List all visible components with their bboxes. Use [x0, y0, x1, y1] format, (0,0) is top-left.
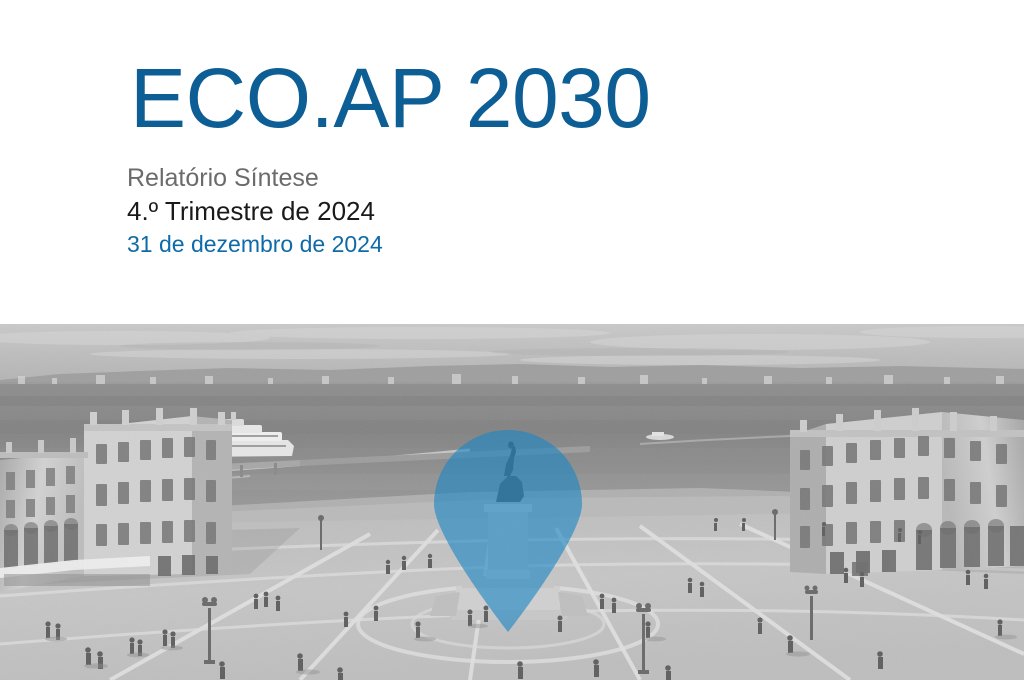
page-title: ECO.AP 2030 — [130, 52, 651, 144]
cover-photograph — [0, 324, 1024, 680]
subtitle-block: Relatório Síntese 4.º Trimestre de 2024 … — [127, 163, 383, 260]
cover-page: ECO.AP 2030 Relatório Síntese 4.º Trimes… — [0, 0, 1024, 680]
report-date-label: 31 de dezembro de 2024 — [127, 228, 383, 260]
report-type-label: Relatório Síntese — [127, 163, 383, 194]
report-period-label: 4.º Trimestre de 2024 — [127, 194, 383, 228]
lisbon-square-photo — [0, 324, 1024, 680]
cover-header: ECO.AP 2030 Relatório Síntese 4.º Trimes… — [0, 0, 1024, 324]
